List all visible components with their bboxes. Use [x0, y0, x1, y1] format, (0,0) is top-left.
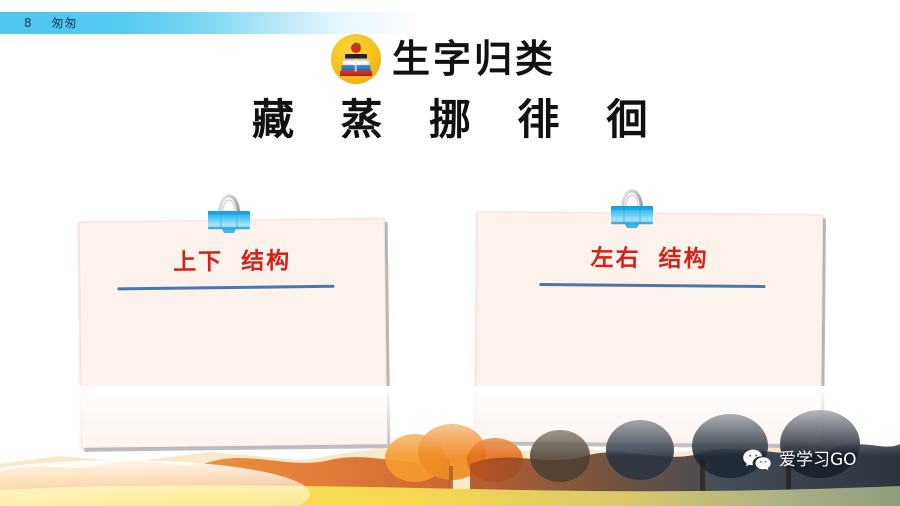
card-underline	[539, 283, 765, 288]
new-characters-row: 藏 蒸 挪 徘 徊	[0, 94, 900, 146]
section-title-text: 生字归类	[392, 36, 556, 82]
structure-card-zuoyou[interactable]: 左右结构	[475, 211, 823, 444]
binder-clip-icon	[604, 185, 660, 235]
character-item: 蒸	[341, 94, 383, 146]
binder-clip-icon	[201, 190, 257, 240]
watermark: 爱学习GO	[742, 448, 857, 472]
card-label-part2: 结构	[658, 246, 708, 272]
card-label-part1: 上下	[173, 249, 223, 276]
lesson-title: 匆匆	[51, 16, 77, 30]
watermark-text: 爱学习GO	[779, 450, 857, 470]
wechat-icon	[742, 448, 772, 472]
lesson-header-text: 8 匆匆	[24, 12, 77, 34]
card-underline	[117, 285, 334, 291]
character-item: 藏	[252, 94, 294, 146]
card-label-part2: 结构	[241, 248, 291, 275]
card-label-part1: 左右	[590, 245, 640, 271]
character-item: 挪	[429, 94, 471, 146]
character-item: 徘	[517, 94, 559, 146]
character-item: 徊	[606, 94, 648, 146]
section-title: 生字归类	[330, 33, 556, 85]
slide-canvas: 8 匆匆	[0, 0, 900, 506]
structure-card-shangxia[interactable]: 上下结构	[79, 218, 388, 448]
books-apple-icon	[330, 33, 382, 85]
card-label: 上下结构	[173, 246, 291, 277]
card-label: 左右结构	[590, 243, 708, 274]
card-label-row: 上下结构	[80, 245, 384, 279]
lesson-number: 8	[24, 16, 33, 30]
card-label-row: 左右结构	[477, 243, 821, 276]
